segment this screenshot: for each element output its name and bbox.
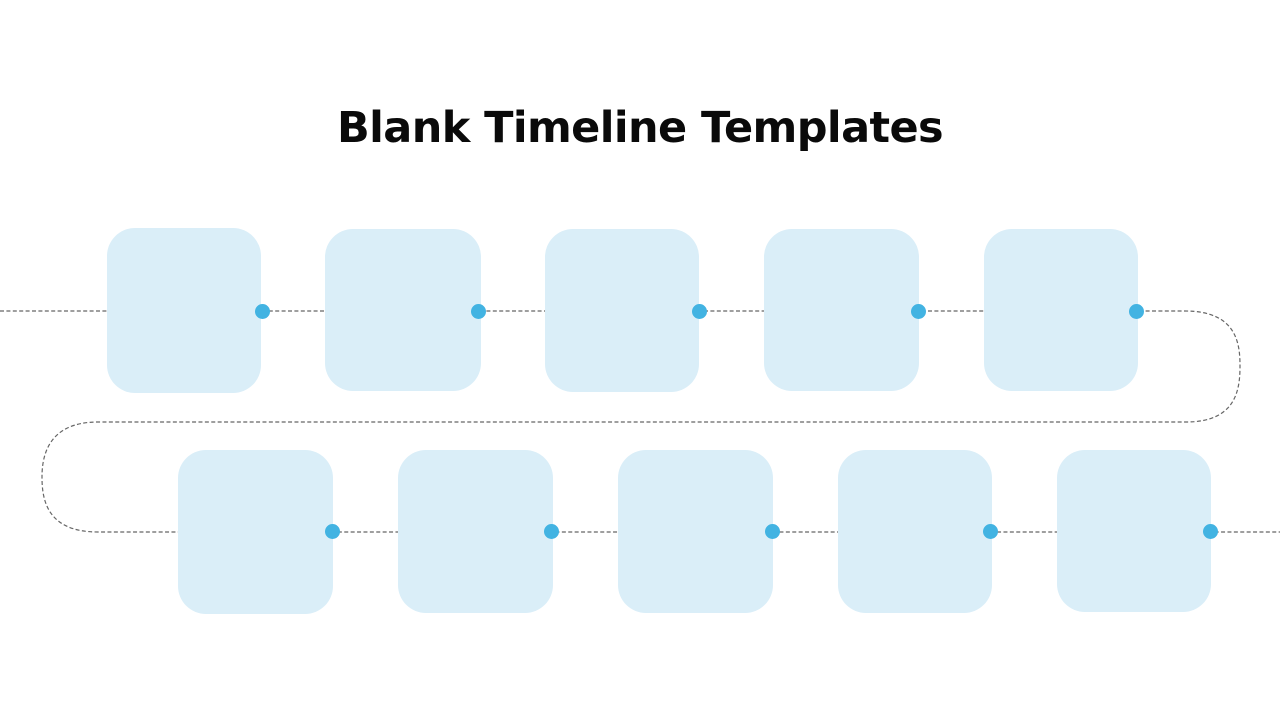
- timeline-card[interactable]: [178, 450, 333, 614]
- timeline-card[interactable]: [984, 229, 1138, 391]
- timeline-card[interactable]: [1057, 450, 1211, 612]
- timeline-card[interactable]: [545, 229, 699, 392]
- page-title: Blank Timeline Templates: [0, 104, 1280, 153]
- milestone-dot[interactable]: [544, 524, 559, 539]
- milestone-dot[interactable]: [911, 304, 926, 319]
- milestone-dot[interactable]: [983, 524, 998, 539]
- milestone-dot[interactable]: [692, 304, 707, 319]
- milestone-dot[interactable]: [765, 524, 780, 539]
- timeline-card[interactable]: [325, 229, 481, 391]
- milestone-dot[interactable]: [1129, 304, 1144, 319]
- timeline-card[interactable]: [107, 228, 261, 393]
- milestone-dot[interactable]: [471, 304, 486, 319]
- timeline-card[interactable]: [398, 450, 553, 613]
- timeline-card[interactable]: [618, 450, 773, 613]
- milestone-dot[interactable]: [255, 304, 270, 319]
- timeline-card[interactable]: [764, 229, 919, 391]
- timeline-card[interactable]: [838, 450, 992, 613]
- milestone-dot[interactable]: [325, 524, 340, 539]
- timeline-slide: Blank Timeline Templates: [0, 0, 1280, 720]
- milestone-dot[interactable]: [1203, 524, 1218, 539]
